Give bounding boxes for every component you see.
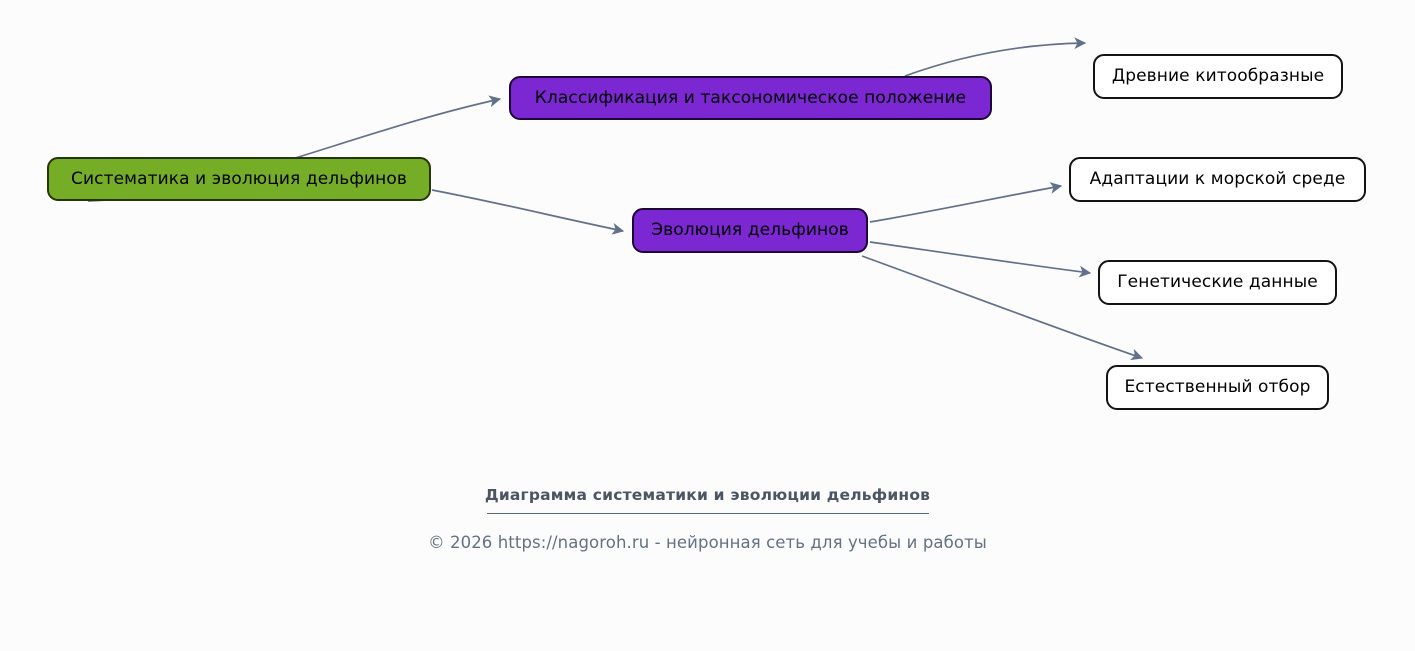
footer-divider <box>487 513 929 514</box>
edge-root-to-evolution <box>432 190 623 231</box>
node-natural-selection[interactable]: Естественный отбор <box>1106 365 1329 410</box>
edge-evolution-to-genetics <box>870 242 1090 273</box>
node-root-systematics[interactable]: Систематика и эволюция дельфинов <box>47 157 431 201</box>
node-ancient-cetaceans[interactable]: Древние китообразные <box>1093 54 1343 99</box>
node-genetic-data[interactable]: Генетические данные <box>1098 260 1337 305</box>
edge-evolution-to-adaptations <box>870 186 1061 222</box>
node-classification[interactable]: Классификация и таксономическое положени… <box>509 76 992 120</box>
diagram-caption: Диаграмма системати­ки и эволюции дельфи… <box>0 486 1415 504</box>
node-marine-adaptations[interactable]: Адаптации к морской среде <box>1069 157 1366 202</box>
edge-classification-to-ancient <box>905 43 1085 76</box>
diagram-canvas: Систематика и эволюция дельфинов Классиф… <box>0 0 1415 651</box>
footer: Диаграмма системати­ки и эволюции дельфи… <box>0 486 1415 552</box>
footer-copyright: © 2026 https://nagoroh.ru - нейронная се… <box>0 533 1415 552</box>
node-evolution[interactable]: Эволюция дельфинов <box>632 208 868 253</box>
